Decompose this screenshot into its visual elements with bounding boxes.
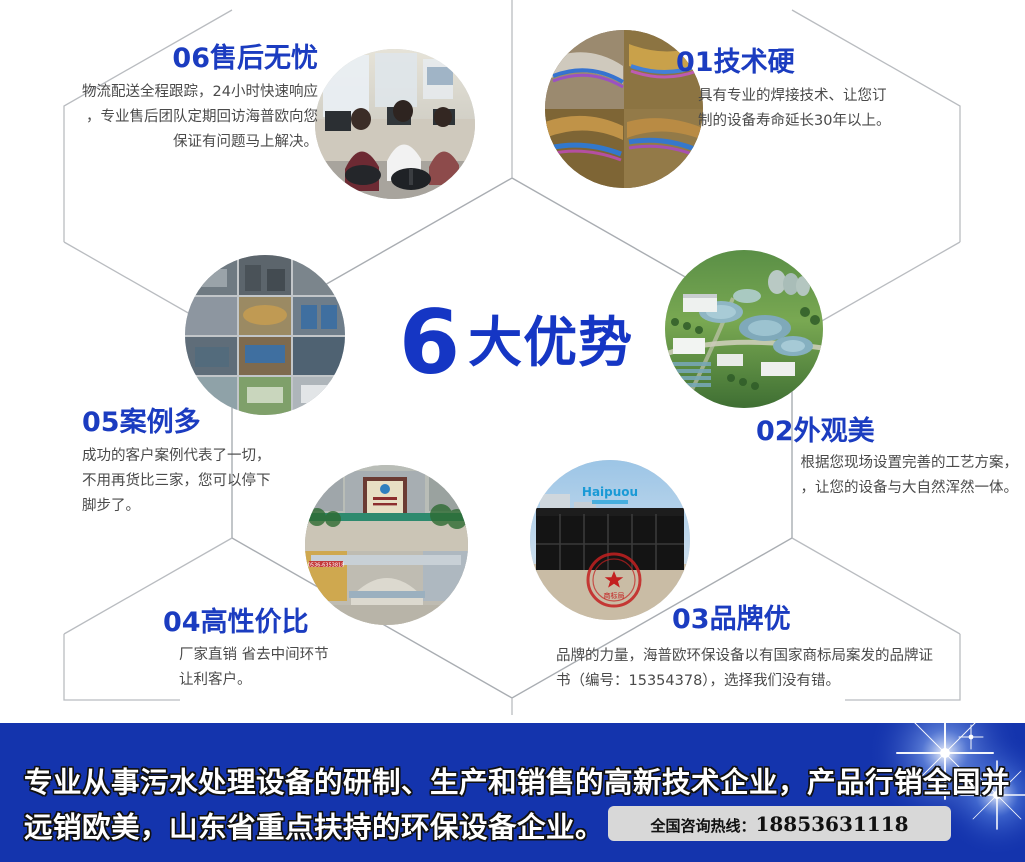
feature-03-desc: 品牌的力量，海普欧环保设备以有国家商标局案发的品牌证 书（编号：15354378… bbox=[556, 644, 1022, 694]
center-headline: 6 大优势 bbox=[381, 288, 651, 398]
feature-06-title: 06售后无忧 bbox=[18, 44, 318, 74]
feature-06-desc-line: ，专业售后团队定期回访海普欧向您 bbox=[18, 105, 318, 130]
feature-04-desc: 厂家直销 省去中间环节 让利客户。 bbox=[163, 643, 463, 693]
feature-02: 02外观美 根据您现场设置完善的工艺方案， ，让您的设备与大自然浑然一体。 bbox=[756, 417, 1025, 501]
feature-06-desc: 物流配送全程跟踪，24小时快速响应 ，专业售后团队定期回访海普欧向您 保证有问题… bbox=[18, 80, 318, 155]
infographic-root: Haipuou 商标局 bbox=[0, 0, 1025, 862]
banner-line-1: 专业从事污水处理设备的研制、生产和销售的高新技术企业，产品行销全国并 bbox=[24, 760, 1010, 801]
feature-01: 01技术硬 具有专业的焊接技术、让您订 制的设备寿命延长30年以上。 bbox=[676, 48, 1006, 134]
feature-01-desc: 具有专业的焊接技术、让您订 制的设备寿命延长30年以上。 bbox=[676, 84, 1006, 134]
office-staff-photo bbox=[315, 49, 475, 199]
hotline-number: 18853631118 bbox=[755, 812, 908, 836]
feature-05: 05案例多 成功的客户案例代表了一切， 不用再货比三家，您可以停下 脚步了。 bbox=[82, 408, 382, 519]
feature-02-desc-line: ，让您的设备与大自然浑然一体。 bbox=[756, 476, 1018, 501]
feature-04-desc-line: 让利客户。 bbox=[179, 668, 463, 693]
feature-06: 06售后无忧 物流配送全程跟踪，24小时快速响应 ，专业售后团队定期回访海普欧向… bbox=[18, 44, 318, 155]
feature-04-title: 04高性价比 bbox=[163, 608, 463, 638]
center-label: 大优势 bbox=[468, 316, 633, 370]
sewage-treatment-plant-photo bbox=[665, 250, 823, 408]
feature-05-desc-line: 成功的客户案例代表了一切， bbox=[82, 444, 382, 469]
feature-04: 04高性价比 厂家直销 省去中间环节 让利客户。 bbox=[163, 608, 463, 693]
feature-02-desc-line: 根据您现场设置完善的工艺方案， bbox=[756, 451, 1018, 476]
feature-01-title: 01技术硬 bbox=[676, 48, 1006, 78]
equipment-trademark-photo: Haipuou 商标局 bbox=[530, 460, 690, 620]
hotline-text: 全国咨询热线：18853631118 bbox=[650, 812, 908, 836]
banner-line-2: 远销欧美，山东省重点扶持的环保设备企业。 bbox=[24, 805, 604, 846]
case-collage-photo bbox=[185, 255, 345, 415]
svg-text:商标局: 商标局 bbox=[604, 591, 625, 600]
feature-03-title: 03品牌优 bbox=[672, 605, 1022, 635]
feature-03-desc-line: 品牌的力量，海普欧环保设备以有国家商标局案发的品牌证 bbox=[556, 644, 1022, 669]
feature-05-desc: 成功的客户案例代表了一切， 不用再货比三家，您可以停下 脚步了。 bbox=[82, 444, 382, 519]
feature-05-title: 05案例多 bbox=[82, 408, 382, 438]
feature-02-desc: 根据您现场设置完善的工艺方案， ，让您的设备与大自然浑然一体。 bbox=[756, 451, 1018, 501]
feature-06-desc-line: 保证有问题马上解决。 bbox=[18, 130, 318, 155]
feature-05-desc-line: 不用再货比三家，您可以停下 bbox=[82, 469, 382, 494]
hotline-label: 全国咨询热线： bbox=[650, 817, 755, 835]
feature-03: 03品牌优 bbox=[672, 605, 1022, 635]
feature-03-desc-line: 书（编号：15354378），选择我们没有错。 bbox=[556, 669, 1022, 694]
feature-01-desc-line: 具有专业的焊接技术、让您订 bbox=[698, 84, 1006, 109]
feature-05-desc-line: 脚步了。 bbox=[82, 494, 382, 519]
svg-text:Haipuou: Haipuou bbox=[582, 485, 638, 499]
hotline-pill[interactable]: 全国咨询热线：18853631118 bbox=[608, 806, 951, 841]
feature-06-desc-line: 物流配送全程跟踪，24小时快速响应 bbox=[18, 80, 318, 105]
center-number: 6 bbox=[399, 299, 458, 387]
feature-01-desc-line: 制的设备寿命延长30年以上。 bbox=[698, 109, 1006, 134]
feature-02-title: 02外观美 bbox=[756, 417, 1025, 447]
feature-04-desc-line: 厂家直销 省去中间环节 bbox=[179, 643, 463, 668]
svg-text:0536-6353818: 0536-6353818 bbox=[308, 563, 345, 569]
